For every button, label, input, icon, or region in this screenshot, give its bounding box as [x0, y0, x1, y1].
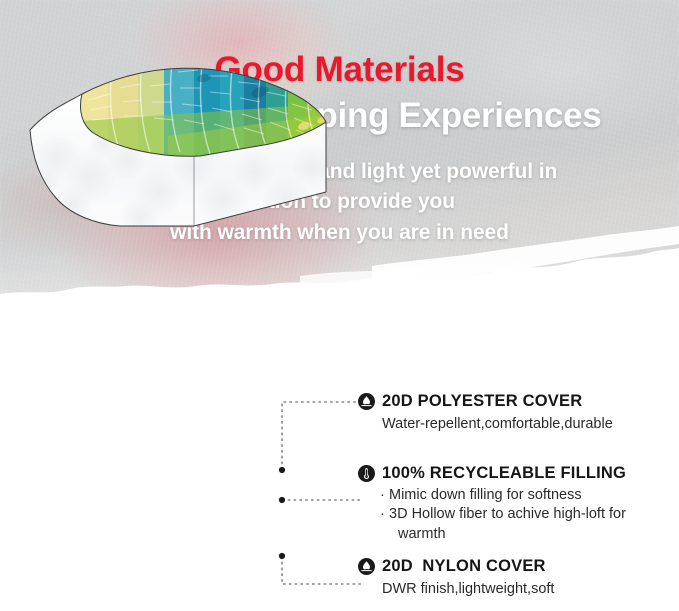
- bullet-text-continued: warmth: [389, 525, 626, 544]
- thermometer-icon: [358, 465, 375, 482]
- water-drop-icon: [358, 393, 375, 410]
- callout-title: 100% RECYCLEABLE FILLING: [382, 464, 626, 483]
- callout-polyester-cover: 20D POLYESTER COVER Water-repellent,comf…: [358, 392, 613, 434]
- callout-recycleable-filling: 100% RECYCLEABLE FILLING · Mimic down fi…: [358, 464, 626, 544]
- leader-dot-1: [279, 467, 285, 473]
- list-item: · Mimic down filling for softness: [380, 486, 626, 505]
- bullet-mark: ·: [380, 505, 385, 524]
- callout-title: 20D POLYESTER COVER: [382, 392, 582, 411]
- product-cutaway-illustration: [8, 52, 358, 252]
- callout-bullet-list: · Mimic down filling for softness · 3D H…: [380, 486, 626, 544]
- callout-labels: 20D POLYESTER COVER Water-repellent,comf…: [358, 0, 679, 611]
- bullet-mark: ·: [380, 486, 385, 505]
- callout-description: Water-repellent,comfortable,durable: [382, 415, 613, 434]
- leader-dot-3: [279, 553, 285, 559]
- bullet-text: Mimic down filling for softness: [389, 487, 582, 503]
- callout-nylon-cover: 20D NYLON COVER DWR finish,lightweight,s…: [358, 557, 554, 599]
- leader-line-1: [282, 402, 361, 470]
- callout-title: 20D NYLON COVER: [382, 557, 546, 576]
- bullet-text: 3D Hollow fiber to achive high-loft for: [389, 506, 626, 522]
- callout-description: DWR finish,lightweight,soft: [382, 580, 554, 599]
- list-item: · 3D Hollow fiber to achive high-loft fo…: [380, 505, 626, 544]
- leader-line-3: [282, 556, 361, 584]
- leader-dot-2: [279, 497, 285, 503]
- water-drop-icon: [358, 558, 375, 575]
